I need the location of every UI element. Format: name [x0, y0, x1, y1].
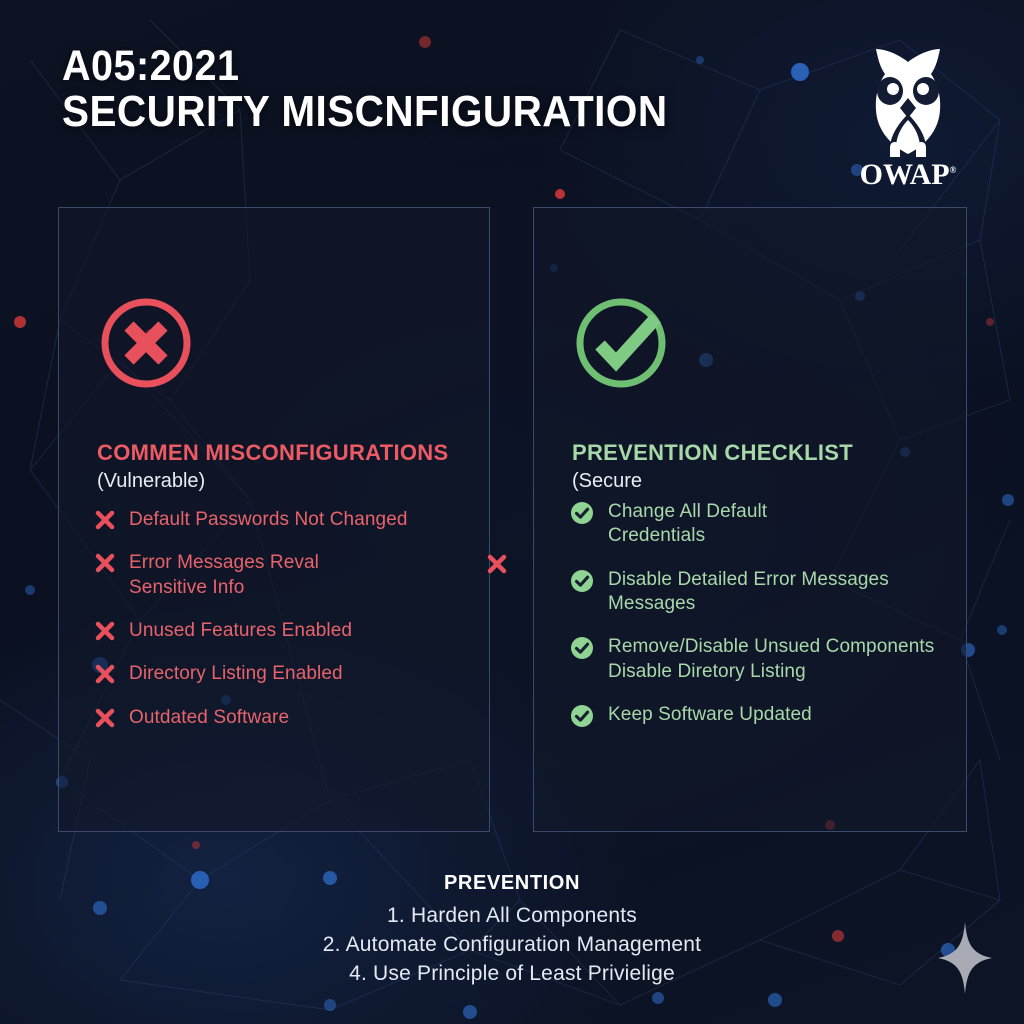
- x-mark-icon: [95, 552, 115, 574]
- page-title-name: SECURITY MISCNFIGURATION: [62, 89, 724, 135]
- x-mark-icon: [95, 707, 115, 729]
- list-item[interactable]: Outdated Software: [95, 706, 515, 730]
- misconfigurations-title: COMMEN MISCONFIGURATIONS: [97, 440, 497, 466]
- x-mark-icon: [95, 663, 115, 685]
- footer-title: PREVENTION: [0, 872, 1024, 895]
- list-item[interactable]: Disable Detailed Error Messages Messages: [570, 568, 990, 617]
- four-point-star-icon: [938, 922, 992, 994]
- page-title-code: A05:2021: [62, 44, 724, 89]
- circle-x-badge: [99, 296, 193, 395]
- infographic-poster: A05:2021 SECURITY MISCNFIGURATION: [0, 0, 1024, 1024]
- list-item[interactable]: Default Passwords Not Changed: [95, 508, 515, 532]
- check-circle-icon: [570, 501, 594, 525]
- circle-check-badge: [574, 296, 674, 397]
- list-item-label: Unused Features Enabled: [129, 619, 352, 643]
- circle-x-icon: [99, 296, 193, 390]
- check-circle-icon: [570, 636, 594, 660]
- prevention-title: PREVENTION CHECKLIST: [572, 440, 972, 466]
- list-item-label: Error Messages Reval Sensitive Info: [129, 551, 319, 600]
- misconfigurations-list: Default Passwords Not Changed Error Mess…: [95, 508, 515, 749]
- check-circle-icon: [570, 704, 594, 728]
- list-item[interactable]: Change All Default Credentials: [570, 500, 990, 549]
- list-item[interactable]: Unused Features Enabled: [95, 619, 515, 643]
- x-mark-icon: [95, 509, 115, 531]
- list-item-label: Remove/Disable Unsued Components Disable…: [608, 635, 934, 684]
- list-item-label: Directory Listing Enabled: [129, 662, 343, 686]
- x-mark-icon: [95, 620, 115, 642]
- list-item[interactable]: Remove/Disable Unsued Components Disable…: [570, 635, 990, 684]
- circle-check-icon: [574, 296, 674, 392]
- footer-step: 2. Automate Configuration Management: [0, 931, 1024, 960]
- footer-step: 1. Harden All Components: [0, 902, 1024, 931]
- misconfigurations-subtitle: (Vulnerable): [97, 470, 497, 493]
- stray-x-mark-icon: [487, 553, 507, 575]
- list-item-label: Default Passwords Not Changed: [129, 508, 408, 532]
- list-item-label: Change All Default Credentials: [608, 500, 767, 549]
- owasp-logo: OWAP®: [838, 48, 978, 198]
- owl-icon: [852, 48, 964, 164]
- misconfigurations-heading: COMMEN MISCONFIGURATIONS (Vulnerable): [97, 440, 497, 493]
- prevention-panel: PREVENTION CHECKLIST (Secure Change All …: [533, 207, 967, 832]
- prevention-heading: PREVENTION CHECKLIST (Secure: [572, 440, 972, 493]
- owasp-wordmark-text: OWAP: [860, 158, 950, 191]
- prevention-list: Change All Default Credentials Disable D…: [570, 500, 990, 747]
- list-item[interactable]: Keep Software Updated: [570, 703, 990, 728]
- prevention-footer: PREVENTION 1. Harden All Components 2. A…: [0, 872, 1024, 989]
- owasp-wordmark: OWAP®: [860, 158, 957, 192]
- list-item-label: Keep Software Updated: [608, 703, 812, 727]
- list-item[interactable]: Error Messages Reval Sensitive Info: [95, 551, 515, 600]
- list-item[interactable]: Directory Listing Enabled: [95, 662, 515, 686]
- list-item-label: Outdated Software: [129, 706, 289, 730]
- list-item-label: Disable Detailed Error Messages Messages: [608, 568, 889, 617]
- trademark-symbol: ®: [950, 165, 957, 175]
- check-circle-icon: [570, 569, 594, 593]
- misconfigurations-panel: COMMEN MISCONFIGURATIONS (Vulnerable) De…: [58, 207, 490, 832]
- footer-step: 4. Use Principle of Least Privielige: [0, 960, 1024, 989]
- poster-header: A05:2021 SECURITY MISCNFIGURATION: [62, 44, 782, 134]
- prevention-subtitle: (Secure: [572, 470, 972, 493]
